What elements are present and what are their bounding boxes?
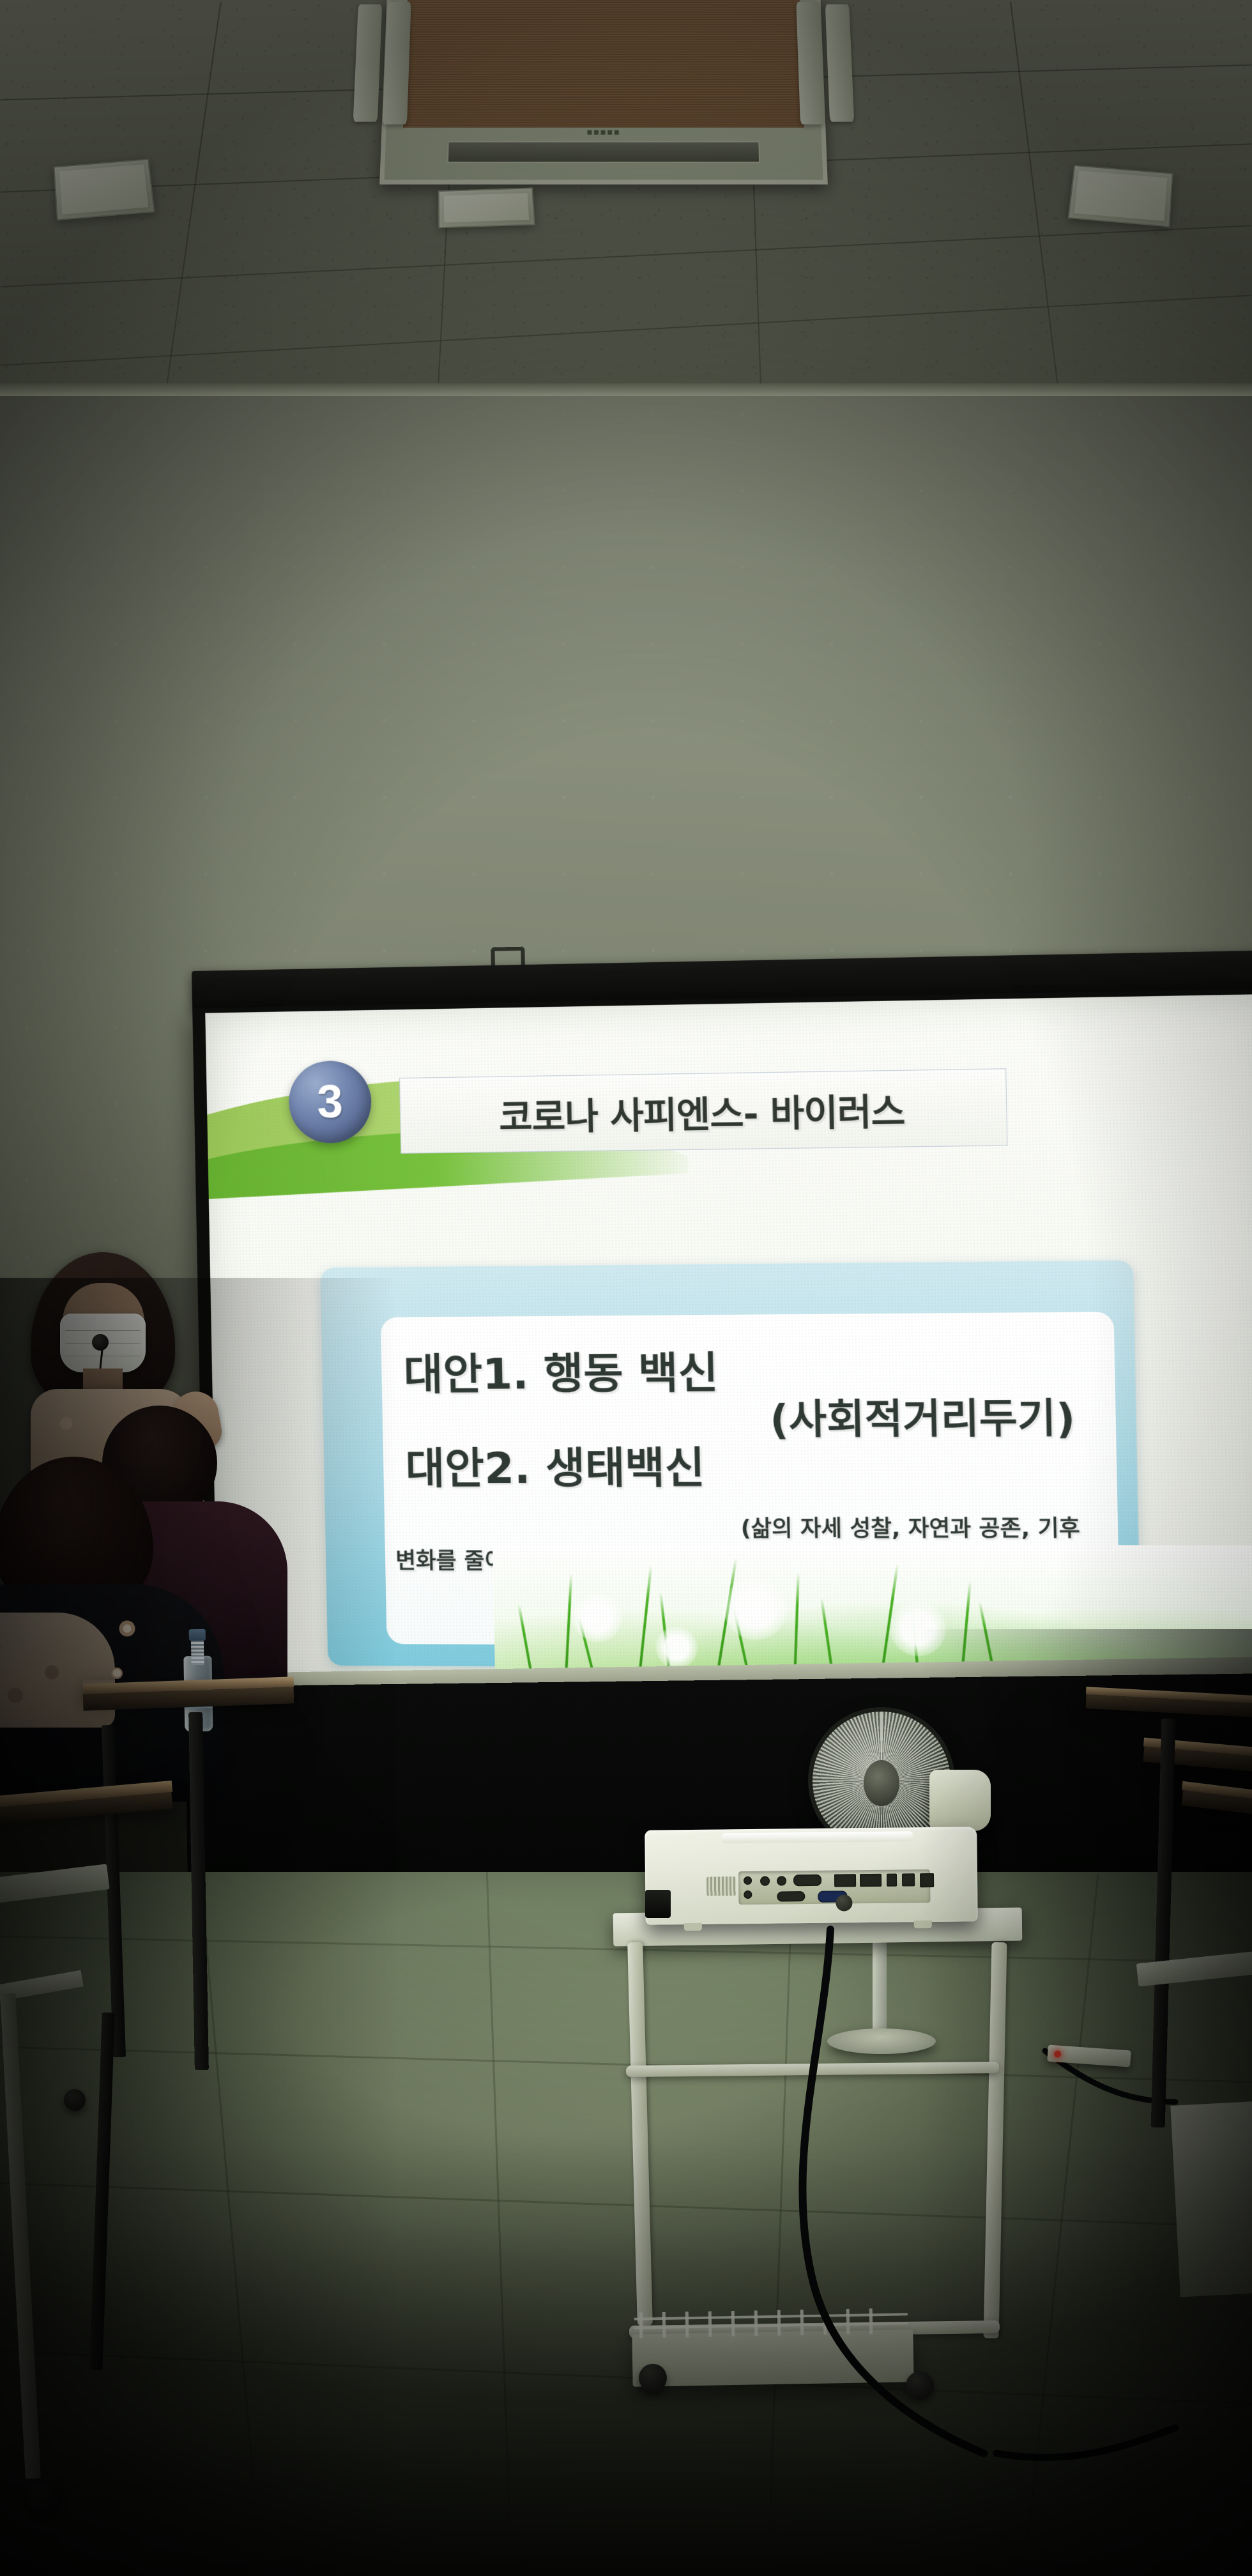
air-conditioner-vent — [447, 141, 760, 163]
basket-wire — [777, 2310, 781, 2336]
projector-hdmi-port[interactable] — [860, 1874, 882, 1887]
mask-fold — [65, 1356, 141, 1356]
cart-lower-basket — [632, 2329, 913, 2387]
desk-right-lower — [1182, 1789, 1252, 1802]
basket-wire — [662, 2312, 666, 2338]
basket-wire — [823, 2310, 827, 2335]
projector-vent — [706, 1876, 736, 1896]
basket-wire — [708, 2311, 712, 2337]
air-conditioner-louver — [796, 2, 825, 125]
dandelion-puff — [572, 1593, 622, 1642]
wall-ceiling-seam — [0, 383, 1252, 396]
slide-content: 3 코로나 사피엔스- 바이러스 대안1. 행동 백신 (사회적거리두기) 대안… — [205, 994, 1252, 1698]
ceiling-light-right — [1068, 165, 1173, 227]
dandelion-puff — [889, 1601, 947, 1656]
slide-body-line-1: 대안1. 행동 백신 — [403, 1346, 1083, 1399]
ceiling: ■■■■■ — [0, 0, 1252, 409]
basket-wire — [685, 2311, 689, 2337]
fan-base — [827, 2028, 936, 2054]
floor-vignette — [0, 1872, 1252, 2576]
slide-title: 코로나 사피엔스- 바이러스 — [498, 1082, 905, 1140]
basket-wire — [639, 2313, 643, 2338]
power-strip-led-icon — [1054, 2050, 1062, 2058]
slide-body-line-3: 대안2. 생태백신 — [405, 1442, 1085, 1492]
projector-port-panel — [738, 1869, 931, 1905]
projector-usb-a-port[interactable] — [887, 1874, 897, 1887]
table-right-front — [1170, 2098, 1252, 2297]
basket-wire — [846, 2309, 850, 2334]
cart-caster — [906, 2372, 934, 2400]
dandelion-puff — [722, 1577, 787, 1640]
slide-body-line-2: (사회적거리두기) — [404, 1396, 1084, 1445]
audience-scarf — [0, 1613, 115, 1728]
projector-top-strip — [721, 1831, 913, 1843]
projector-vga-port[interactable] — [793, 1874, 821, 1886]
projector-power-plug — [645, 1890, 671, 1918]
air-conditioner-louver — [353, 4, 383, 122]
slide-note-line-1: (삶의 자세 성찰, 자연과 공존, 기후 — [406, 1514, 1086, 1544]
projector-foot — [684, 1923, 702, 1931]
desk-left-mid — [0, 1789, 172, 1805]
slide-number-badge: 3 — [288, 1061, 372, 1144]
projector-foot — [914, 1920, 932, 1928]
chair-caster — [64, 2089, 86, 2111]
slide-title-box: 코로나 사피엔스- 바이러스 — [399, 1068, 1008, 1154]
basket-wire — [731, 2311, 735, 2336]
air-conditioner-louver — [383, 2, 411, 125]
projector-hdmi-port[interactable] — [834, 1874, 856, 1887]
air-conditioner-badge: ■■■■■ — [587, 130, 621, 136]
basket-wire — [800, 2310, 804, 2335]
clothing-flower-detail — [119, 1620, 135, 1637]
projector[interactable] — [645, 1827, 978, 1924]
projector-knob[interactable] — [836, 1894, 852, 1911]
screen-border: 3 코로나 사피엔스- 바이러스 대안1. 행동 백신 (사회적거리두기) 대안… — [192, 988, 1252, 1704]
clothing-flower-detail — [111, 1667, 123, 1679]
ceiling-light-center — [438, 187, 535, 228]
basket-wire — [754, 2310, 758, 2336]
presenter-microphone-icon — [92, 1334, 109, 1351]
projector-usb-b-port[interactable] — [902, 1873, 915, 1886]
chair-caster — [26, 2479, 63, 2516]
desk-right-mid — [1143, 1744, 1252, 1757]
mask-fold — [65, 1330, 141, 1331]
fan-hub — [864, 1760, 899, 1806]
projector-rca-port[interactable] — [760, 1876, 770, 1886]
bottle-neck — [191, 1638, 204, 1665]
projected-slide: 3 코로나 사피엔스- 바이러스 대안1. 행동 백신 (사회적거리두기) 대안… — [205, 994, 1252, 1698]
projector-lan-port[interactable] — [920, 1873, 934, 1887]
desk-right-upper — [1086, 1692, 1252, 1705]
air-conditioner-filter — [403, 0, 804, 128]
air-conditioner-unit: ■■■■■ — [379, 0, 828, 185]
projector-vga-port[interactable] — [777, 1891, 805, 1901]
projector-audio-port[interactable] — [744, 1876, 752, 1885]
projector-rca-port[interactable] — [777, 1876, 786, 1885]
dandelion-puff — [655, 1627, 698, 1668]
cart-caster — [639, 2364, 667, 2392]
bottle-cap — [189, 1629, 206, 1641]
lecture-room-scene: ■■■■■ 3 — [0, 0, 1252, 2576]
floor — [0, 1872, 1252, 2576]
ceiling-light-left — [53, 158, 155, 220]
projection-screen-assembly[interactable]: 3 코로나 사피엔스- 바이러스 대안1. 행동 백신 (사회적거리두기) 대안… — [192, 950, 1252, 1705]
basket-wire — [869, 2308, 873, 2334]
scarf-pattern — [0, 1613, 115, 1728]
projector-audio-port[interactable] — [744, 1890, 752, 1899]
desk-left-upper — [83, 1680, 294, 1697]
fan-motor-housing — [929, 1770, 991, 1831]
